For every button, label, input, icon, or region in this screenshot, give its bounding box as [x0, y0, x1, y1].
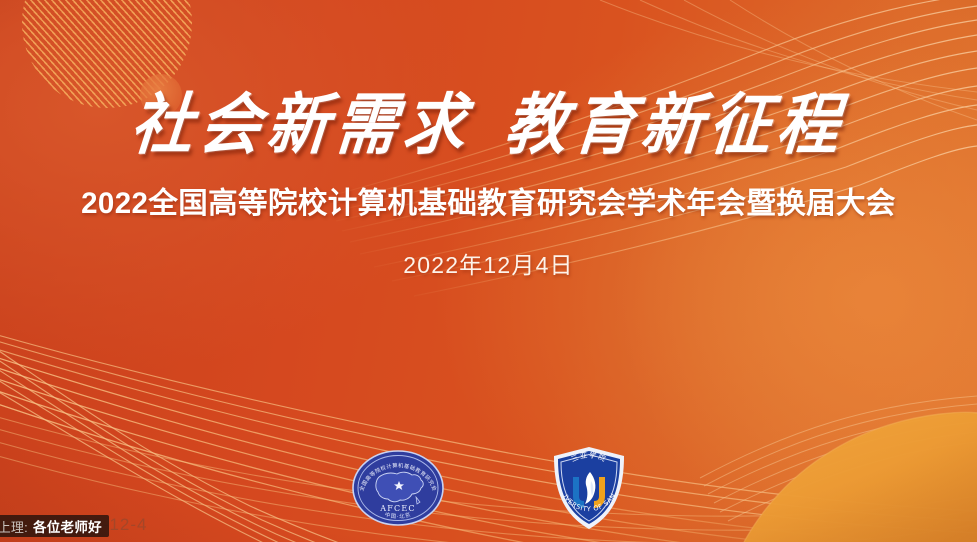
conference-subtitle: 2022全国高等院校计算机基础教育研究会学术年会暨换届大会 [81, 180, 896, 222]
presentation-slide: 社会新需求教育新征程 2022全国高等院校计算机基础教育研究会学术年会暨换届大会… [0, 0, 977, 542]
afcec-emblem-logo: 全国高等院校计算机基础教育研究会 AFCEC 中国·北京 [350, 449, 446, 527]
svg-text:AFCEC: AFCEC [379, 504, 415, 513]
chat-message-overlay: 云-上理: 各位老师好 [0, 515, 109, 537]
chat-username: 云-上理: [0, 517, 28, 536]
main-title-part2: 教育新征程 [502, 85, 849, 163]
conference-date: 2022年12月4日 [403, 246, 574, 280]
main-title-part1: 社会新需求 [128, 85, 475, 163]
main-title: 社会新需求教育新征程 [128, 90, 848, 160]
chat-message-text: 各位老师好 [33, 516, 102, 536]
university-of-sanya-crest-logo: 三亚学院 UNIVERSITY OF SANYA [550, 444, 628, 532]
